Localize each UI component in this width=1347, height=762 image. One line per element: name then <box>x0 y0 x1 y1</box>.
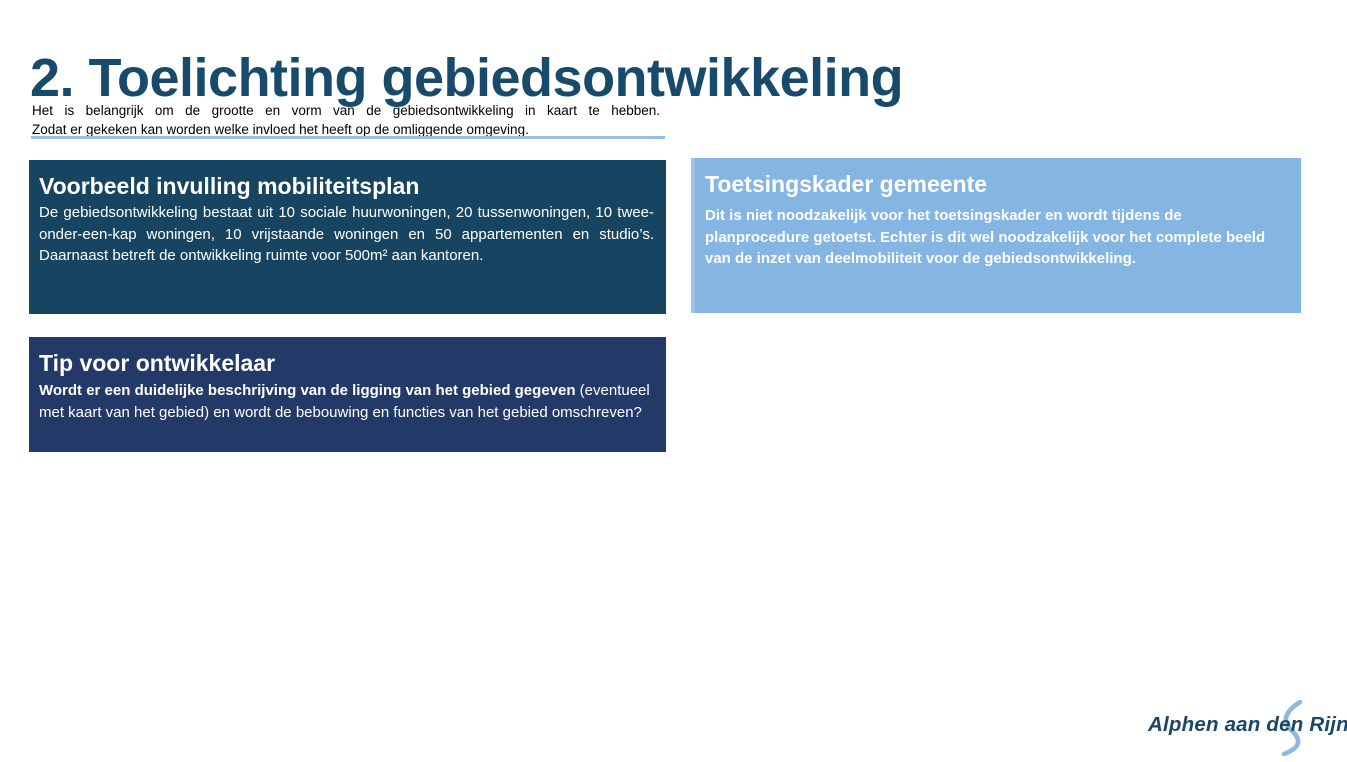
slide-canvas: 2. Toelichting gebiedsontwikkeling Het i… <box>0 0 1347 762</box>
card-toetsingskader-gemeente: Toetsingskader gemeente Dit is niet nood… <box>691 158 1301 313</box>
card-body-framework: Dit is niet noodzakelijk voor het toetsi… <box>705 205 1289 270</box>
card-body-tip-emphasis: Wordt er een duidelijke beschrijving van… <box>39 382 576 399</box>
logo-text: Alphen aan den Rijn <box>1148 712 1347 738</box>
header-divider <box>31 136 665 139</box>
card-body-tip: Wordt er een duidelijke beschrijving van… <box>39 380 654 423</box>
intro-paragraph: Het is belangrijk om de grootte en vorm … <box>32 101 660 139</box>
card-body-example: De gebiedsontwikkeling bestaat uit 10 so… <box>39 202 654 267</box>
card-title-example: Voorbeeld invulling mobiliteitsplan <box>39 172 654 200</box>
card-voorbeeld-invulling-mobiliteitsplan: Voorbeeld invulling mobiliteitsplan De g… <box>29 160 666 314</box>
card-title-tip: Tip voor ontwikkelaar <box>39 349 654 377</box>
intro-line-1: Het is belangrijk om de grootte en vorm … <box>32 101 660 120</box>
municipality-logo: Alphen aan den Rijn <box>1148 703 1333 755</box>
card-tip-voor-ontwikkelaar: Tip voor ontwikkelaar Wordt er een duide… <box>29 337 666 452</box>
card-title-framework: Toetsingskader gemeente <box>705 170 1289 198</box>
